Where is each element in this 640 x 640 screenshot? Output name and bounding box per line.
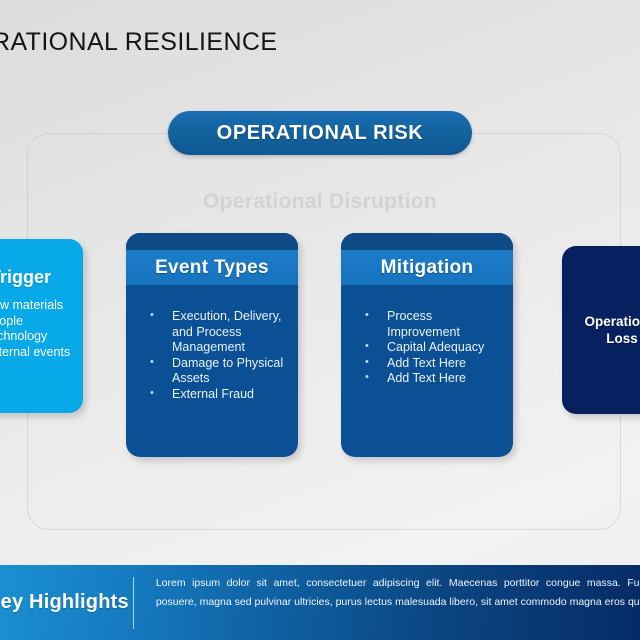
key-highlights-body: Lorem ipsum dolor sit amet, consectetuer… — [156, 574, 640, 631]
card-mitigation-title: Mitigation — [381, 257, 474, 279]
card-mitigation-header: Mitigation — [341, 250, 513, 285]
list-item: Raw materials — [0, 298, 73, 314]
card-trigger-title: Trigger — [0, 267, 73, 288]
list-item: External events — [0, 345, 73, 361]
list-item: Technology — [0, 329, 73, 345]
list-item: Execution, Delivery, and Process Managem… — [136, 309, 286, 356]
diagram-subtitle: Operational Disruption — [0, 190, 640, 214]
card-top-strip — [341, 233, 513, 250]
page-title: OPERATIONAL RESILIENCE — [0, 28, 558, 57]
card-event-types-list: Execution, Delivery, and Process Managem… — [136, 309, 286, 402]
key-highlights-title: Key Highlights — [0, 591, 129, 614]
list-item: Damage to Physical Assets — [136, 356, 286, 387]
card-trigger[interactable]: Trigger Raw materials People Technology … — [0, 239, 83, 413]
list-item: People — [0, 314, 73, 330]
list-item: Add Text Here — [351, 371, 501, 387]
card-mitigation-list: Process Improvement Capital Adequacy Add… — [351, 309, 501, 387]
card-event-types-title: Event Types — [155, 257, 269, 279]
card-operational-loss-title: Operational Loss — [576, 313, 640, 347]
list-item: Add Text Here — [351, 356, 501, 372]
card-top-strip — [126, 233, 298, 250]
operational-risk-label: OPERATIONAL RISK — [217, 122, 424, 145]
card-operational-loss[interactable]: Operational Loss — [562, 246, 640, 414]
card-mitigation-body: Process Improvement Capital Adequacy Add… — [341, 285, 513, 397]
divider — [133, 577, 134, 629]
card-event-types-body: Execution, Delivery, and Process Managem… — [126, 285, 298, 412]
operational-risk-pill[interactable]: OPERATIONAL RISK — [168, 111, 472, 155]
list-item: Capital Adequacy — [351, 340, 501, 356]
key-highlights-bar: Key Highlights Lorem ipsum dolor sit ame… — [0, 565, 640, 640]
card-event-types-header: Event Types — [126, 250, 298, 285]
list-item: Process Improvement — [351, 309, 501, 340]
list-item: External Fraud — [136, 387, 286, 403]
card-event-types[interactable]: Event Types Execution, Delivery, and Pro… — [126, 233, 298, 457]
card-trigger-list: Raw materials People Technology External… — [0, 298, 73, 360]
card-mitigation[interactable]: Mitigation Process Improvement Capital A… — [341, 233, 513, 457]
